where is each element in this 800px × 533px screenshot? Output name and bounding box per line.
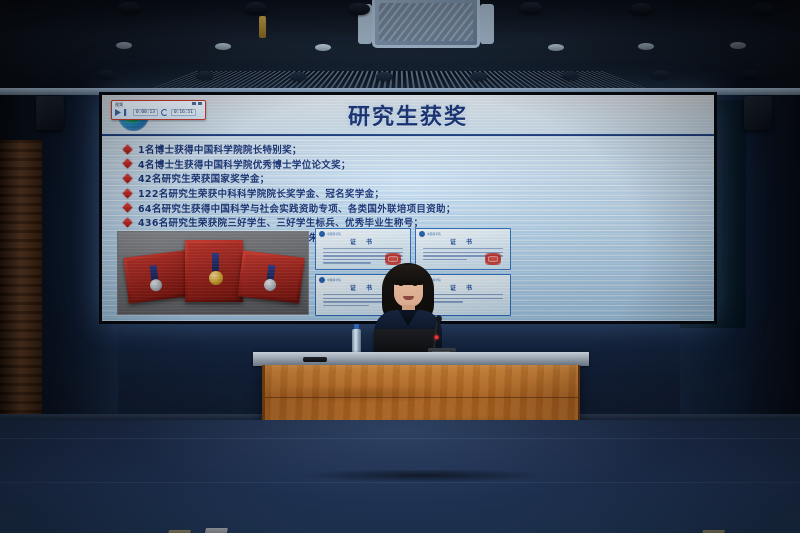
media-controls[interactable]: 0:00:13 0:16:51 bbox=[115, 109, 202, 116]
diamond-bullet-icon bbox=[123, 217, 133, 227]
diamond-bullet-icon bbox=[123, 188, 133, 198]
lecture-hall-scene: 研究生获奖 1名博士获得中国科学院院长特别奖； 4名博士生获得中国科学院优秀博士… bbox=[0, 0, 800, 533]
medal-ribbon bbox=[212, 253, 219, 271]
pause-icon[interactable] bbox=[124, 109, 130, 116]
diamond-bullet-icon bbox=[123, 203, 133, 213]
list-item: 64名研究生获得中国科学与社会实践资助专项、各类国外联培项目资助； bbox=[124, 200, 702, 215]
total-time: 0:16:51 bbox=[171, 109, 196, 116]
diamond-bullet-icon bbox=[123, 174, 133, 184]
floor-seam bbox=[0, 438, 800, 439]
microphone-led-icon bbox=[434, 335, 438, 339]
medal-silver bbox=[263, 278, 276, 291]
bullet-text: 4名博士生获得中国科学院优秀博士学位论文奖； bbox=[138, 157, 351, 171]
close-icon[interactable] bbox=[198, 102, 202, 105]
podium-shadow bbox=[258, 470, 588, 488]
certificate-title: 证 书 bbox=[316, 237, 410, 246]
certificate-org: 中国科学院 bbox=[427, 232, 441, 236]
list-item: 42名研究生荣获国家奖学金； bbox=[124, 171, 702, 186]
medal-gold bbox=[209, 271, 223, 285]
floor-socket-box bbox=[204, 528, 228, 533]
wall-speaker bbox=[744, 96, 772, 130]
medal-box-inner bbox=[188, 243, 240, 299]
microphone-head bbox=[435, 315, 442, 323]
wood-wall-panel bbox=[0, 140, 42, 422]
wall-speaker bbox=[36, 96, 64, 130]
medal-box bbox=[185, 240, 243, 302]
bullet-text: 42名研究生荣获国家奖学金； bbox=[138, 171, 269, 185]
minimize-icon[interactable] bbox=[192, 102, 196, 105]
media-player-overlay[interactable]: 视频 0:00:13 0:16:51 bbox=[111, 100, 206, 120]
medal-box-inner bbox=[127, 254, 187, 301]
certificate-title: 证 书 bbox=[416, 237, 510, 246]
hair-fringe bbox=[390, 265, 427, 285]
window-controls[interactable] bbox=[192, 102, 202, 105]
list-item: 1名博士获得中国科学院院长特别奖； bbox=[124, 142, 702, 157]
media-player-title: 视频 bbox=[115, 102, 123, 108]
list-item: 4名博士生获得中国科学院优秀博士学位论文奖； bbox=[124, 157, 702, 172]
bullet-text: 64名研究生获得中国科学与社会实践资助专项、各类国外联培项目资助； bbox=[138, 201, 456, 215]
bullet-text: 122名研究生荣获中科科学院院长奖学金、冠名奖学金； bbox=[138, 186, 384, 200]
medal-box-inner bbox=[241, 254, 301, 301]
remote-control[interactable] bbox=[303, 357, 327, 362]
wood-seam bbox=[265, 397, 578, 398]
diamond-bullet-icon bbox=[123, 159, 133, 169]
ceiling bbox=[0, 0, 800, 96]
medal-photo bbox=[117, 231, 309, 315]
medal-box bbox=[237, 250, 304, 303]
medal-silver bbox=[149, 278, 162, 291]
ceiling-edge-shadow bbox=[0, 0, 800, 96]
medal-box bbox=[123, 250, 190, 303]
bullet-text: 1名博士获得中国科学院院长特别奖； bbox=[138, 142, 302, 156]
list-item: 122名研究生荣获中科科学院院长奖学金、冠名奖学金； bbox=[124, 186, 702, 201]
certificate-org: 中国科学院 bbox=[327, 278, 341, 282]
red-seal-icon bbox=[485, 253, 501, 265]
current-time: 0:00:13 bbox=[133, 109, 158, 116]
diamond-bullet-icon bbox=[123, 144, 133, 154]
loop-icon[interactable] bbox=[161, 109, 168, 116]
play-icon[interactable] bbox=[115, 109, 121, 116]
certificate-org: 中国科学院 bbox=[327, 232, 341, 236]
